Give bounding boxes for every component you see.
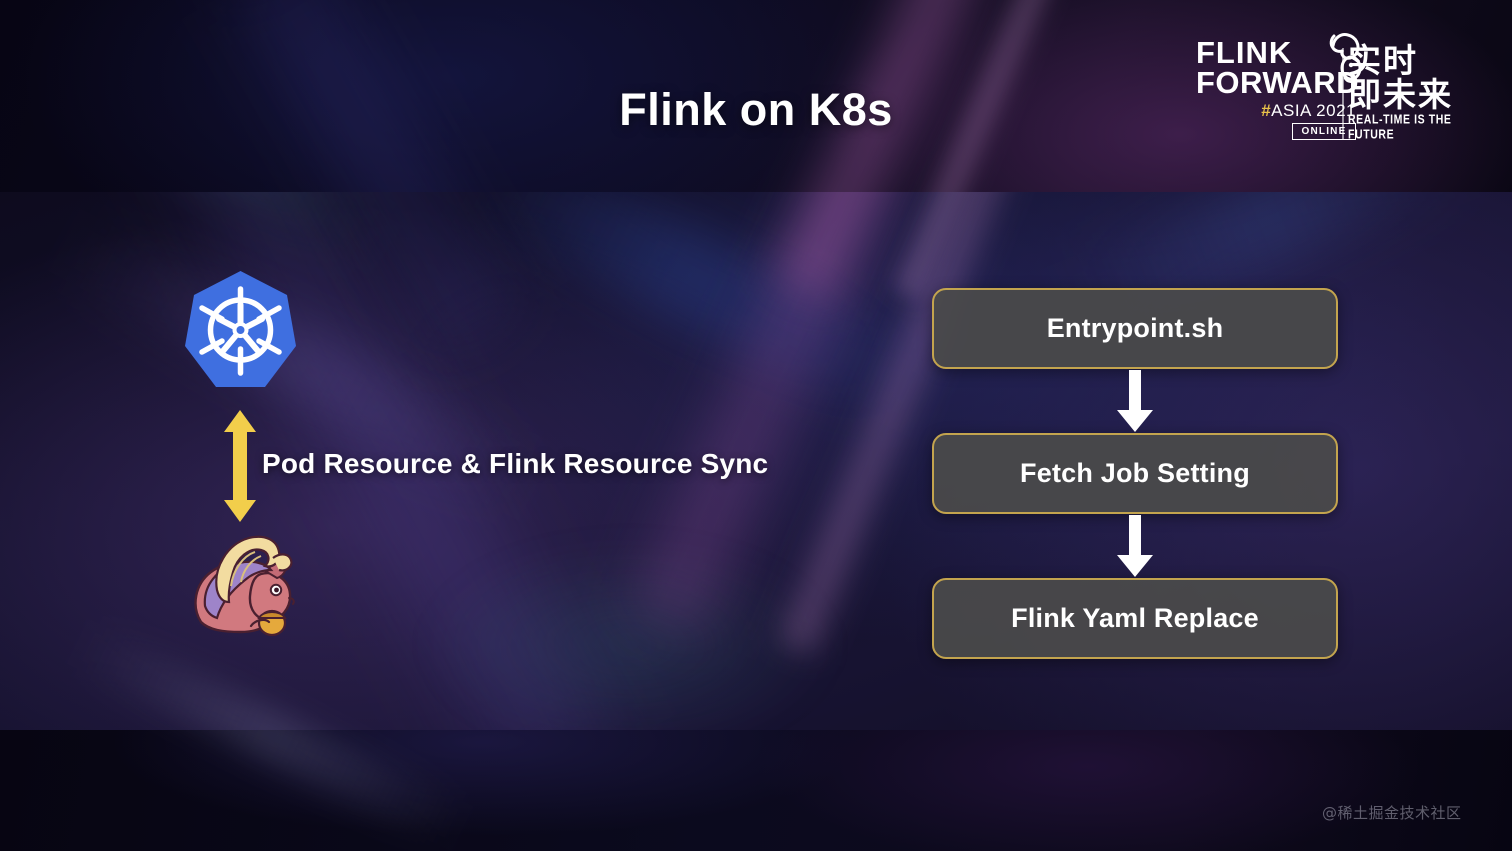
logo-left-block: FLINK FORWARD #ASIA 2021 ONLINE xyxy=(1196,38,1356,140)
flow-step-entrypoint[interactable]: Entrypoint.sh xyxy=(932,288,1338,369)
logo-hash-symbol: # xyxy=(1261,101,1271,120)
flow-step-label: Flink Yaml Replace xyxy=(1011,603,1259,634)
footer-band xyxy=(0,730,1512,851)
watermark: @稀土掘金技术社区 xyxy=(1322,802,1462,823)
kubernetes-logo-icon xyxy=(183,269,298,392)
arrow-down-icon xyxy=(1116,370,1154,432)
bidirectional-sync-arrow-icon xyxy=(222,410,258,522)
flow-step-label: Entrypoint.sh xyxy=(1047,313,1224,344)
logo-cn-line-1: 实时 xyxy=(1348,44,1488,78)
logo-divider xyxy=(1342,48,1344,140)
flow-step-flink-yaml-replace[interactable]: Flink Yaml Replace xyxy=(932,578,1338,659)
logo-cn-line-2: 即未来 xyxy=(1348,78,1488,112)
arrow-down-icon xyxy=(1116,515,1154,577)
flow-step-label: Fetch Job Setting xyxy=(1020,458,1250,489)
background-glow xyxy=(420,540,840,750)
sync-label: Pod Resource & Flink Resource Sync xyxy=(262,448,768,480)
flink-forward-logo: FLINK FORWARD #ASIA 2021 ONLINE 实时 即未来 R… xyxy=(1196,38,1486,150)
logo-right-block: 实时 即未来 REAL-TIME IS THE FUTURE xyxy=(1348,44,1488,139)
logo-tagline: REAL-TIME IS THE FUTURE xyxy=(1348,112,1488,142)
slide-root: Flink on K8s FLINK FORWARD #ASIA 2021 ON… xyxy=(0,0,1512,851)
logo-asia-line: #ASIA 2021 xyxy=(1196,102,1356,119)
flowchart: Entrypoint.sh Fetch Job Setting Flink Ya… xyxy=(932,288,1338,659)
flow-step-fetch-job-setting[interactable]: Fetch Job Setting xyxy=(932,433,1338,514)
flow-connector xyxy=(932,369,1338,433)
flink-squirrel-logo-icon xyxy=(183,530,308,645)
logo-online-badge: ONLINE xyxy=(1292,123,1356,140)
flow-connector xyxy=(932,514,1338,578)
